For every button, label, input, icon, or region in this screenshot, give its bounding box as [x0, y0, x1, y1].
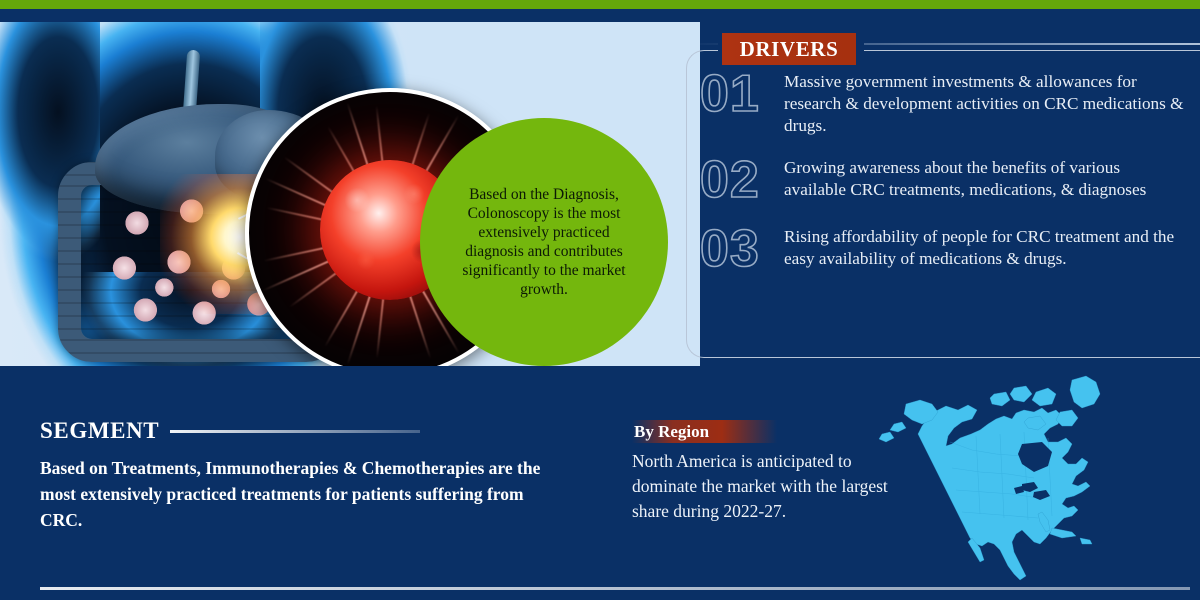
diagnosis-callout-text: Based on the Diagnosis, Colonoscopy is t… [449, 185, 639, 299]
segment-body-text: Based on Treatments, Immunotherapies & C… [40, 455, 560, 533]
driver-item: 03 Rising affordability of people for CR… [700, 223, 1200, 275]
driver-text: Rising affordability of people for CRC t… [784, 223, 1184, 270]
by-region-body-text: North America is anticipated to dominate… [632, 449, 897, 524]
top-green-accent-bar [0, 0, 1200, 9]
bottom-divider-rule [40, 587, 1190, 590]
infographic-page: Based on the Diagnosis, Colonoscopy is t… [0, 0, 1200, 600]
north-america-map [876, 372, 1176, 587]
drivers-list: 01 Massive government investments & allo… [700, 68, 1200, 292]
driver-number: 03 [700, 223, 784, 275]
driver-text: Growing awareness about the benefits of … [784, 154, 1184, 201]
diagnosis-callout-circle: Based on the Diagnosis, Colonoscopy is t… [420, 118, 668, 366]
driver-number: 02 [700, 154, 784, 206]
driver-number: 01 [700, 68, 784, 120]
drivers-title-badge: DRIVERS [722, 33, 856, 65]
segment-heading: SEGMENT [40, 418, 159, 444]
segment-divider-rule [170, 430, 420, 433]
by-region-badge: By Region [632, 420, 777, 443]
driver-text: Massive government investments & allowan… [784, 68, 1184, 137]
driver-item: 01 Massive government investments & allo… [700, 68, 1200, 137]
driver-item: 02 Growing awareness about the benefits … [700, 154, 1200, 206]
